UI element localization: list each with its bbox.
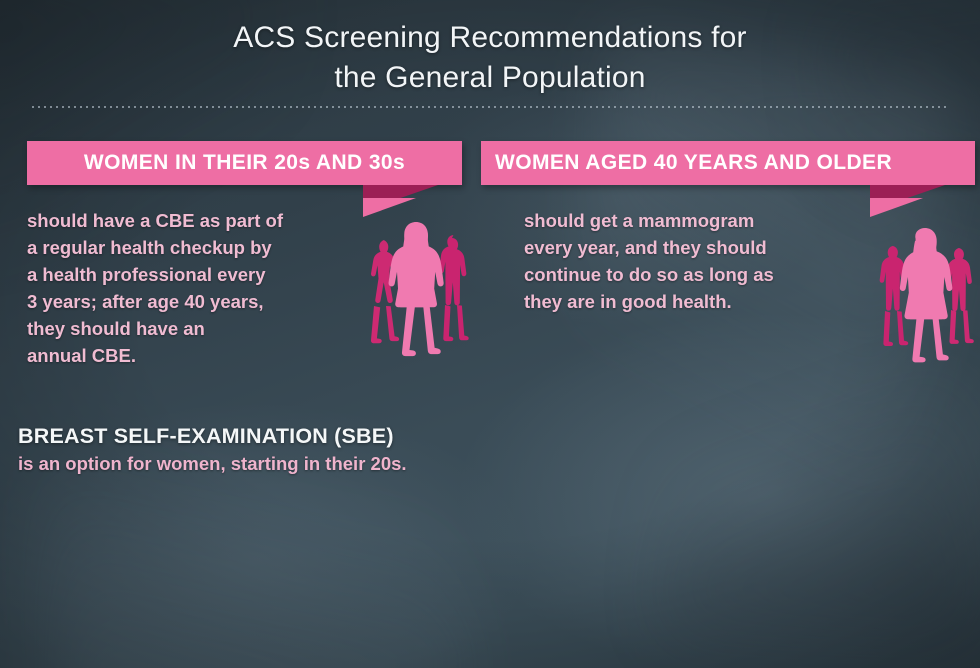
dotted-divider [30, 106, 950, 108]
body-line: every year, and they should [524, 234, 834, 261]
banner-women-40-plus: WOMEN AGED 40 YEARS AND OLDER [481, 141, 975, 185]
sbe-subtext: is an option for women, starting in thei… [18, 453, 578, 475]
page-title: ACS Screening Recommendations for the Ge… [0, 18, 980, 98]
women-silhouette-group-icon [866, 222, 980, 370]
body-line: should get a mammogram [524, 207, 834, 234]
page-title-line-2: the General Population [0, 58, 980, 98]
speech-tail-light-right [870, 198, 923, 217]
speech-tail-light-left [363, 198, 416, 217]
banner-label-right: WOMEN AGED 40 YEARS AND OLDER [495, 151, 892, 175]
body-line: continue to do so as long as [524, 261, 834, 288]
body-line: a health professional every [27, 261, 347, 288]
women-silhouette-group-icon [352, 218, 482, 368]
body-text-women-40-plus: should get a mammogram every year, and t… [524, 207, 834, 315]
body-line: annual CBE. [27, 342, 347, 369]
sbe-heading: BREAST SELF-EXAMINATION (SBE) [18, 424, 578, 449]
sbe-section: BREAST SELF-EXAMINATION (SBE) is an opti… [18, 424, 578, 475]
body-line: they are in good health. [524, 288, 834, 315]
infographic-slide: ACS Screening Recommendations for the Ge… [0, 0, 980, 668]
banner-women-20s-30s: WOMEN IN THEIR 20s AND 30s [27, 141, 462, 185]
body-line: 3 years; after age 40 years, [27, 288, 347, 315]
body-line: a regular health checkup by [27, 234, 347, 261]
women-silhouettes-right [866, 222, 980, 370]
banner-label-left: WOMEN IN THEIR 20s AND 30s [84, 151, 405, 175]
body-line: they should have an [27, 315, 347, 342]
women-silhouettes-left [352, 218, 482, 368]
body-text-women-20s-30s: should have a CBE as part of a regular h… [27, 207, 347, 369]
body-line: should have a CBE as part of [27, 207, 347, 234]
page-title-line-1: ACS Screening Recommendations for [0, 18, 980, 58]
